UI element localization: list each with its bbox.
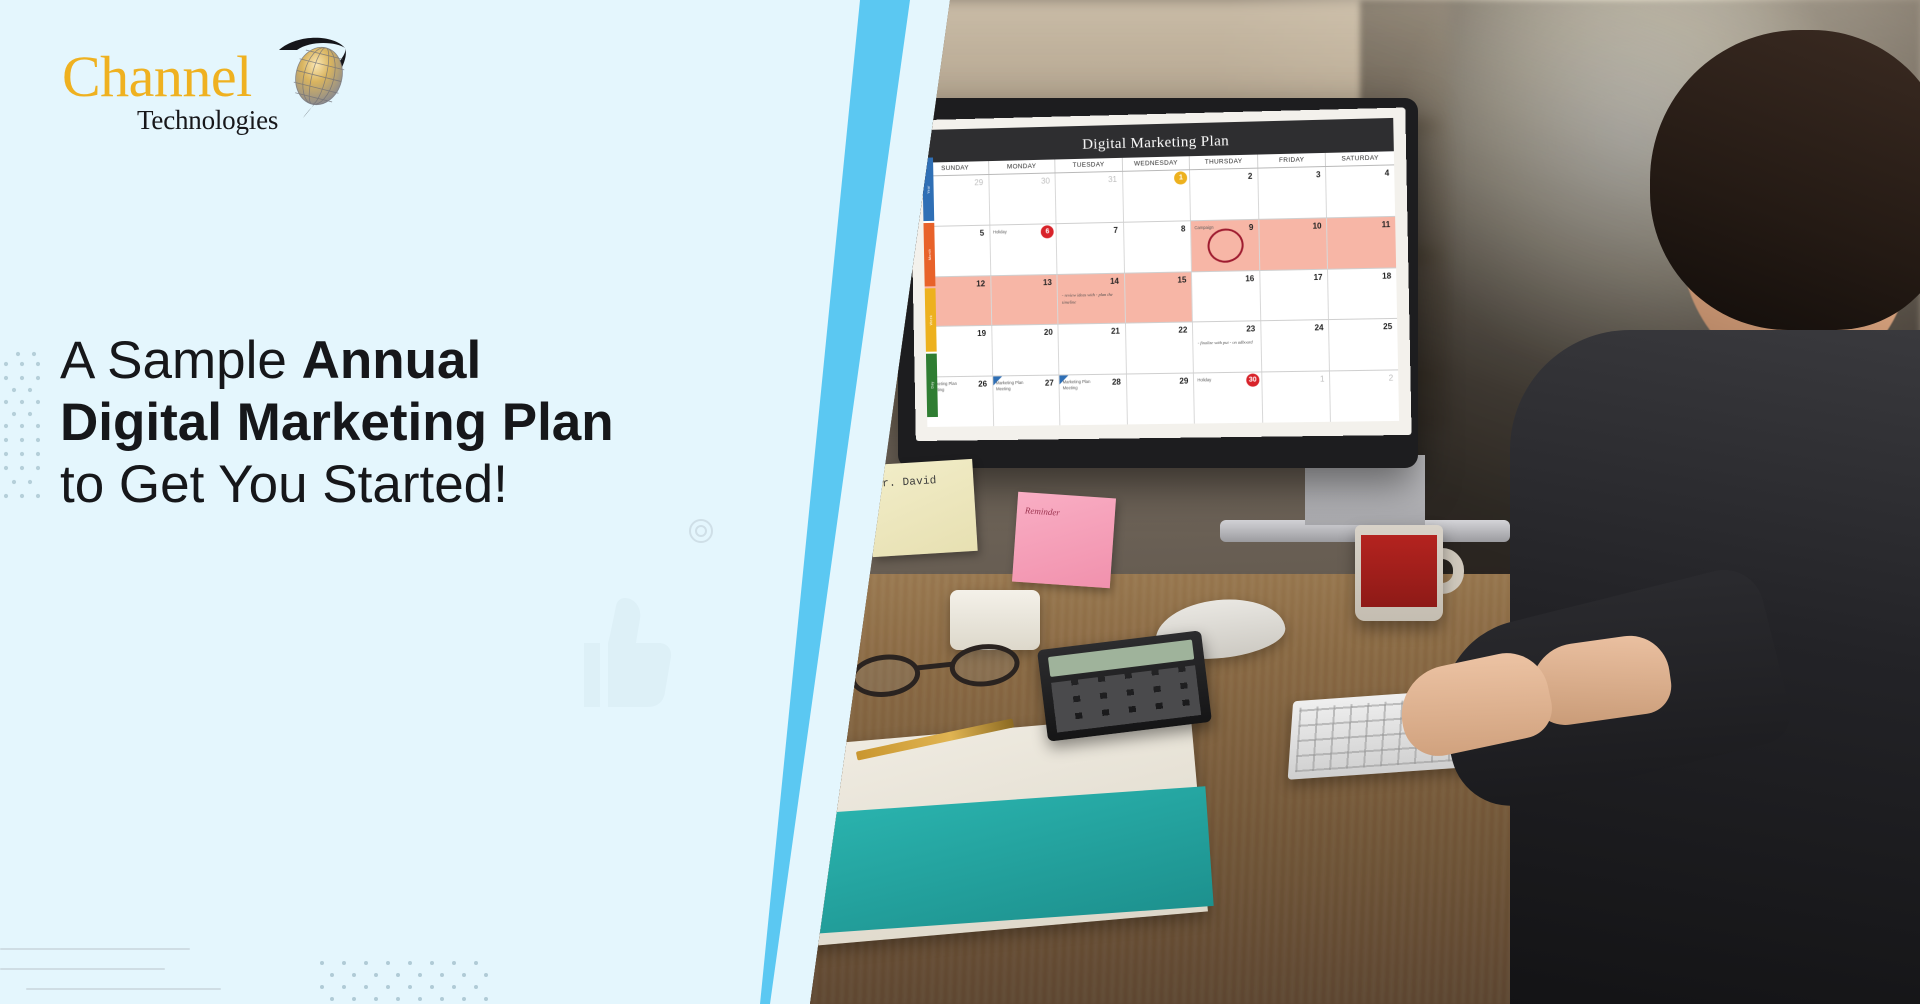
calendar-day-cell[interactable]: 4 [1327,165,1396,217]
office-scene: Digital Marketing Plan SUNDAY MONDAY TUE… [810,0,1920,1004]
brand-logo[interactable]: Channel Tech [62,48,278,110]
calendar-week-row: 19202122- finalize with put - on adboard… [925,319,1398,377]
calendar-day-header: FRIDAY [1258,153,1327,168]
calendar-date-number: 11 [1382,220,1391,229]
calendar-day-cell[interactable]: 31 [1056,172,1124,223]
calendar-day-cell[interactable]: 18 [1328,268,1397,319]
calendar-day-cell[interactable]: 7 [1057,223,1125,274]
calendar-date-number: 25 [1383,322,1392,331]
calendar-day-cell[interactable]: Holiday6 [990,224,1058,275]
calendar-date-number: 29 [1179,377,1188,386]
calendar-date-number: 31 [1108,175,1117,184]
calendar-day-cell[interactable]: 3 [1258,167,1327,219]
calendar-date-number: 12 [976,279,985,288]
calendar-handwritten-note: - review ideas with - plan the timeline [1062,290,1118,305]
calendar-date-number: 28 [1112,378,1121,387]
calendar-day-cell[interactable]: Marketing Plan Meeting27 [993,376,1061,426]
sticky-note-yellow: Mr. David [867,459,977,557]
calendar-date-badge: 1 [1174,171,1187,184]
calendar-day-cell[interactable]: 24 [1261,320,1330,371]
calendar-day-cell[interactable]: Campaign9 [1191,220,1260,271]
calendar-day-cell[interactable]: 21 [1059,324,1127,375]
ring-icon [688,518,714,544]
calendar-day-cell[interactable]: 15 [1125,272,1193,323]
calendar-day-cell[interactable]: 20 [992,325,1060,376]
calendar-tab-month[interactable]: Month [923,223,935,287]
sticky-note-yellow-text: Mr. David [875,475,937,491]
calendar-day-cell[interactable]: - finalize with put - on adboard23 [1193,322,1262,373]
calendar-day-cell[interactable]: 8 [1124,221,1192,272]
calendar-date-number: 15 [1177,275,1186,284]
calendar-event-note: Holiday [993,228,1036,235]
headline-line-3: to Get You Started! [60,454,700,516]
calendar-grid: 29303112345Holiday678Campaign910111213- … [923,165,1399,427]
coffee-mug [1355,525,1443,621]
calendar-date-number: 26 [978,380,987,389]
calendar-day-cell[interactable]: - review ideas with - plan the timeline1… [1058,273,1126,324]
calendar-week-row: 1213- review ideas with - plan the timel… [925,268,1398,327]
calendar-day-header: MONDAY [989,159,1056,174]
calendar-date-number: 14 [1110,276,1119,285]
calendar-date-number: 19 [977,329,986,338]
calendar-week-row: Marketing Plan Meeting26Marketing Plan M… [926,371,1399,427]
calendar-date-number: 24 [1314,324,1323,333]
calendar-date-number: 22 [1178,326,1187,335]
calendar-date-number: 7 [1113,226,1118,235]
calendar-date-number: 16 [1245,274,1254,283]
calendar-date-number: 3 [1316,170,1321,179]
sticky-note-pink: Reminder [1012,492,1116,589]
calendar-date-number: 9 [1249,223,1254,232]
calendar-day-header: WEDNESDAY [1123,156,1191,171]
headline-line-1: A Sample Annual [60,330,700,392]
calendar-date-number: 4 [1385,169,1390,178]
calendar: Digital Marketing Plan SUNDAY MONDAY TUE… [922,118,1399,427]
calendar-date-number: 13 [1043,278,1052,287]
computer-monitor[interactable]: Digital Marketing Plan SUNDAY MONDAY TUE… [898,98,1418,468]
calendar-day-cell[interactable]: Marketing Plan Meeting28 [1060,375,1128,426]
calendar-tab-label: Week [929,315,933,325]
calendar-date-number: 21 [1111,327,1120,336]
calendar-date-number: 2 [1248,172,1253,181]
headline: A Sample Annual Digital Marketing Plan t… [60,330,700,516]
calendar-date-number: 1 [1320,375,1325,384]
globe-swoosh-icon [277,36,349,124]
calendar-date-badge: 30 [1246,374,1259,387]
calendar-event-note: Campaign [1194,224,1238,231]
calendar-date-number: 17 [1313,272,1322,281]
calendar-handwritten-note: - finalize with put - on adboard [1198,339,1255,347]
calendar-day-cell[interactable]: 17 [1260,269,1329,320]
brand-name-primary: Channel [62,48,278,106]
hero-photo: Digital Marketing Plan SUNDAY MONDAY TUE… [810,0,1920,1004]
calendar-day-cell[interactable]: 2 [1190,169,1259,220]
calendar-day-cell[interactable]: 16 [1192,271,1261,322]
headline-line-2: Digital Marketing Plan [60,392,700,454]
calendar-tab-day[interactable]: Day [926,354,938,418]
calendar-tab-year[interactable]: Year [922,157,934,221]
calendar-date-number: 8 [1181,224,1186,233]
calendar-date-number: 2 [1389,374,1394,383]
calendar-tab-label: Month [927,249,931,260]
calendar-day-header: THURSDAY [1190,155,1258,170]
calendar-day-cell[interactable]: 22 [1126,323,1194,374]
calendar-date-badge: 6 [1041,225,1054,238]
calendar-day-cell[interactable]: 13 [991,275,1059,326]
calendar-day-header: TUESDAY [1055,158,1122,173]
brand-name-secondary: Technologies [137,107,278,134]
calendar-week-row: 5Holiday678Campaign91011 [924,217,1397,277]
decorative-line [0,948,190,950]
calendar-event-note: Marketing Plan Meeting [996,380,1039,393]
calendar-day-cell[interactable]: 25 [1329,319,1398,370]
calendar-day-cell[interactable]: 10 [1259,218,1328,269]
dot-grid-bottom-icon [318,958,498,1004]
calendar-date-number: 18 [1382,271,1391,280]
calendar-tab-week[interactable]: Week [925,288,937,352]
calendar-day-cell[interactable]: 2 [1330,371,1399,422]
calendar-date-number: 20 [1044,328,1053,337]
calendar-day-cell[interactable]: 11 [1327,217,1396,269]
calendar-day-cell[interactable]: 29 [1127,374,1195,425]
calendar-tab-label: Year [926,185,930,193]
headline-line1-bold: Annual [302,331,482,390]
calendar-event-note: Marketing Plan Meeting [1063,379,1107,392]
headline-line1-light: A Sample [60,331,302,390]
calendar-day-cell[interactable]: 1 [1123,170,1191,221]
calendar-day-cell[interactable]: 30 [989,173,1057,224]
sticky-note-pink-text: Reminder [1016,492,1116,536]
calendar-day-cell[interactable]: 1 [1262,372,1331,423]
calendar-date-number: 5 [980,229,985,238]
calendar-day-header: SATURDAY [1326,151,1394,166]
decorative-line [0,968,165,970]
calendar-date-number: 10 [1312,221,1321,230]
calendar-event-note: Holiday [1197,377,1241,384]
calendar-date-number: 23 [1246,325,1255,334]
decorative-lines [0,948,260,1004]
calendar-date-number: 29 [974,178,983,187]
monitor-screen: Digital Marketing Plan SUNDAY MONDAY TUE… [910,108,1412,441]
marketing-banner: Channel Tech [0,0,1920,1004]
calendar-tab-label: Day [930,382,934,389]
calendar-date-number: 27 [1045,379,1054,388]
thumbs-up-icon [570,595,680,710]
calendar-date-number: 30 [1041,177,1050,186]
dot-grid-left-icon [0,348,40,508]
decorative-line [26,988,221,990]
calendar-day-cell[interactable]: Holiday30 [1194,373,1263,424]
